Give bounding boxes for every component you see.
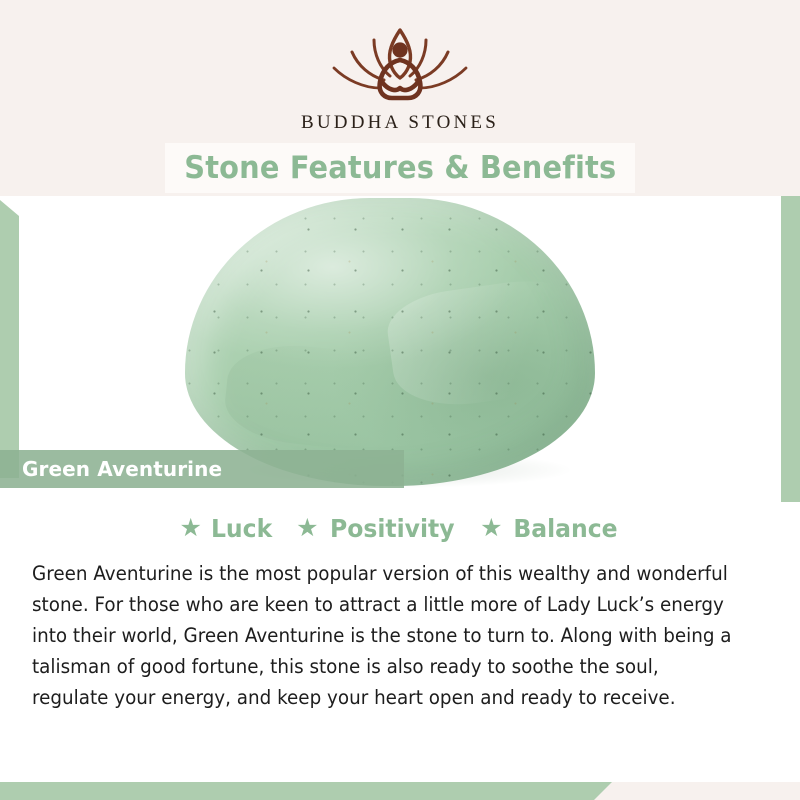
brand-block: BUDDHA STONES — [0, 18, 800, 138]
stone-name-band: Green Aventurine — [0, 450, 404, 488]
description-paragraph: Green Aventurine is the most popular ver… — [32, 558, 739, 713]
brand-name: BUDDHA STONES — [301, 112, 499, 134]
green-aventurine-stone — [185, 198, 595, 486]
title-plate: Stone Features & Benefits — [165, 143, 635, 193]
star-icon: ★ — [480, 516, 502, 541]
star-icon: ★ — [296, 516, 318, 541]
benefit-label: Positivity — [330, 514, 455, 543]
benefit-label: Luck — [211, 514, 272, 543]
product-infographic: BUDDHA STONES Stone Features & Benefits … — [0, 0, 800, 800]
header-band: BUDDHA STONES Stone Features & Benefits — [0, 0, 800, 196]
star-icon: ★ — [180, 516, 202, 541]
benefit-item: ★ Luck — [180, 514, 275, 543]
benefit-item: ★ Positivity — [296, 514, 458, 543]
benefit-label: Balance — [513, 514, 617, 543]
accent-bar-left — [0, 200, 19, 478]
stone-speckle-texture — [185, 198, 595, 486]
body-section: ★ Luck ★ Positivity ★ Balance Green Aven… — [0, 502, 800, 782]
stone-name-label: Green Aventurine — [22, 457, 222, 481]
lotus-meditation-icon — [322, 18, 478, 110]
benefit-item: ★ Balance — [480, 514, 620, 543]
benefits-row: ★ Luck ★ Positivity ★ Balance — [0, 514, 800, 543]
footer-accent-bar — [0, 782, 612, 800]
page-title: Stone Features & Benefits — [184, 150, 616, 186]
